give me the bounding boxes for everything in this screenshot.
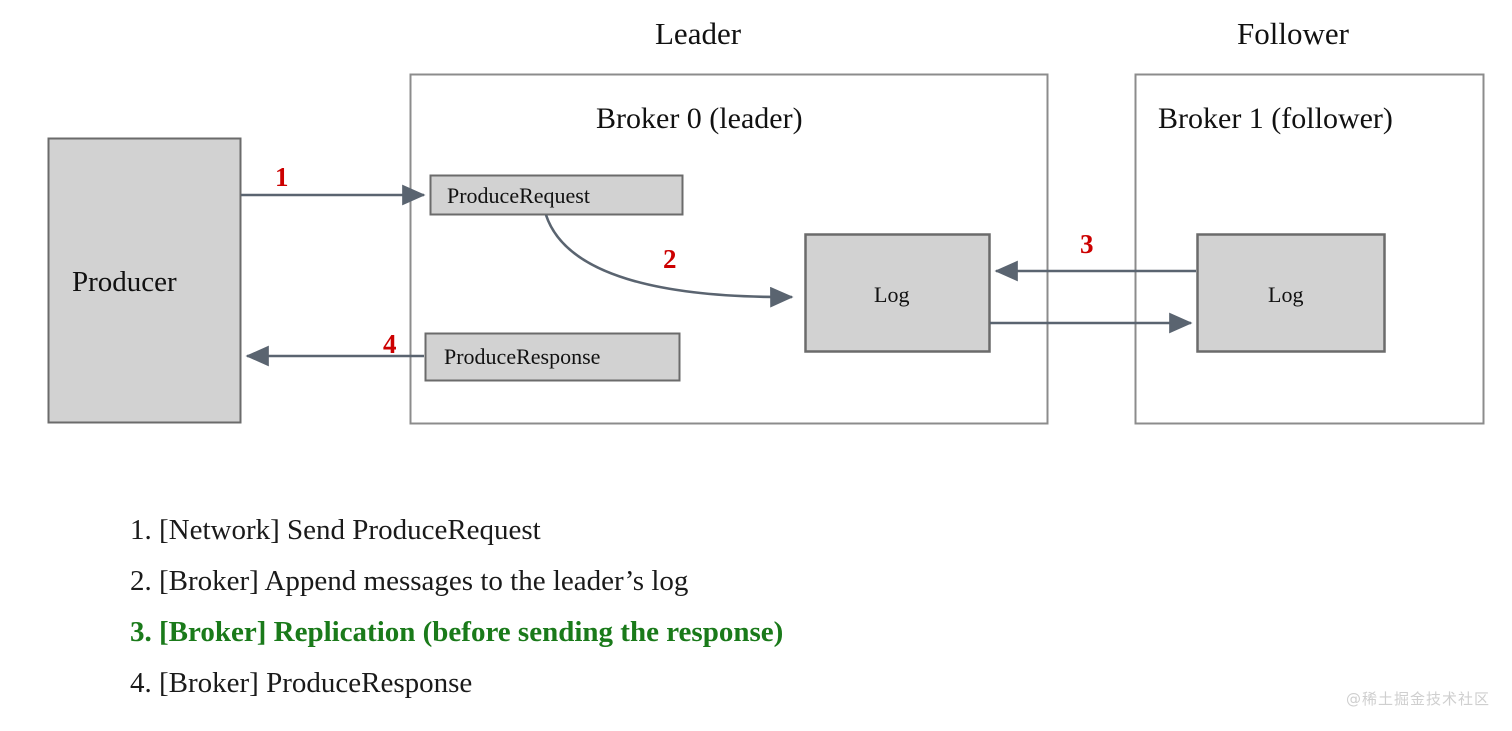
follower-log-label: Log <box>1268 282 1303 308</box>
flow-number-3: 3 <box>1080 231 1094 258</box>
flow-number-1: 1 <box>275 164 289 191</box>
step-item-4: 4. [Broker] ProduceResponse <box>130 658 1230 709</box>
broker-leader-title: Broker 0 (leader) <box>596 104 803 134</box>
produce-request-label: ProduceRequest <box>447 183 590 209</box>
broker-follower-title: Broker 1 (follower) <box>1158 104 1393 134</box>
step-item-2: 2. [Broker] Append messages to the leade… <box>130 556 1230 607</box>
header-follower: Follower <box>1237 18 1349 49</box>
producer-label: Producer <box>72 266 177 299</box>
produce-response-label: ProduceResponse <box>444 344 600 370</box>
flow-number-2: 2 <box>663 246 677 273</box>
kafka-replication-diagram: Leader Follower Broker 0 (leader) Broker… <box>0 0 1512 731</box>
step-item-1: 1. [Network] Send ProduceRequest <box>130 505 1230 556</box>
flow-number-4: 4 <box>383 331 397 358</box>
step-item-3: 3. [Broker] Replication (before sending … <box>130 607 1230 658</box>
watermark: @稀土掘金技术社区 <box>1346 688 1490 709</box>
leader-log-label: Log <box>874 282 909 308</box>
header-leader: Leader <box>655 18 741 49</box>
steps-list: 1. [Network] Send ProduceRequest 2. [Bro… <box>130 505 1230 709</box>
